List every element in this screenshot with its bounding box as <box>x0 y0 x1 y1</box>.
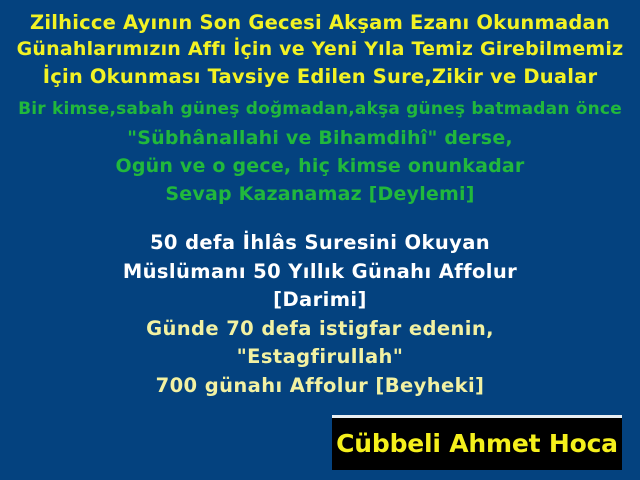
heading-line-2: Günahlarımızın Affı İçin ve Yeni Yıla Te… <box>0 40 640 59</box>
pale-line-3: 700 günahı Affolur [Beyheki] <box>0 376 640 396</box>
signature-label: Cübbeli Ahmet Hoca <box>332 418 622 470</box>
signature-banner: Cübbeli Ahmet Hoca <box>332 415 622 470</box>
green-line-3: Ogün ve o gece, hiç kimse onunkadar <box>0 157 640 176</box>
green-line-1: Bir kimse,sabah güneş doğmadan,akşa güne… <box>0 101 640 118</box>
poster-canvas: Zilhicce Ayının Son Gecesi Akşam Ezanı O… <box>0 0 640 480</box>
green-line-2: "Sübhânallahi ve Bihamdihî" derse, <box>0 129 640 148</box>
white-line-1: 50 defa İhlâs Suresini Okuyan <box>0 233 640 253</box>
green-line-4: Sevap Kazanamaz [Deylemi] <box>0 185 640 204</box>
heading-line-3: İçin Okunması Tavsiye Edilen Sure,Zikir … <box>0 67 640 87</box>
white-line-3: [Darimi] <box>0 290 640 310</box>
white-line-2: Müslümanı 50 Yıllık Günahı Affolur <box>0 262 640 282</box>
heading-line-1: Zilhicce Ayının Son Gecesi Akşam Ezanı O… <box>0 13 640 33</box>
pale-line-2: "Estagfirullah" <box>0 347 640 367</box>
pale-line-1: Günde 70 defa istigfar edenin, <box>0 319 640 339</box>
